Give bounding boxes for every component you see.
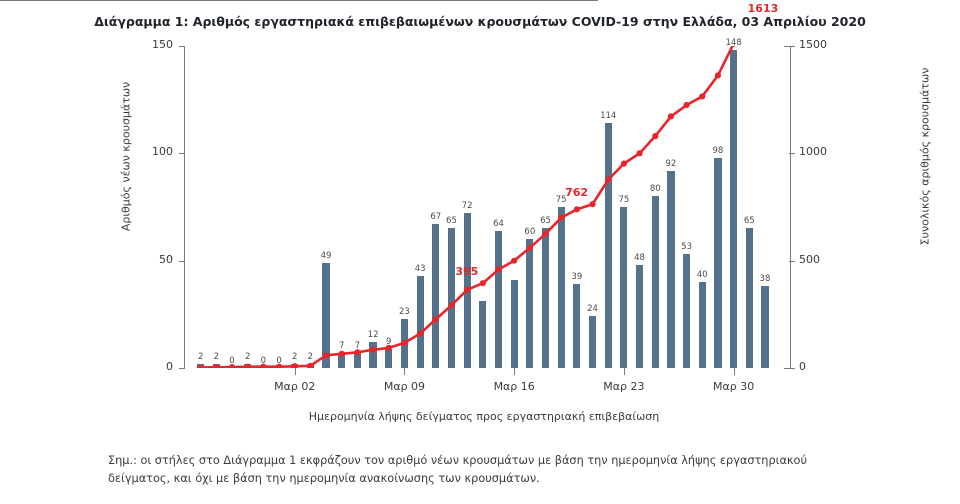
bar-value-label: 65 <box>436 216 466 226</box>
x-axis-tick-mark <box>404 368 405 375</box>
y-axis-right-tick-label: 1500 <box>799 38 845 51</box>
bar <box>605 123 612 368</box>
bar <box>479 301 486 368</box>
bar-value-label: 24 <box>578 304 608 314</box>
y-axis-right-cap <box>784 46 791 47</box>
bar <box>197 364 204 368</box>
bar-value-label: 53 <box>672 242 702 252</box>
x-axis-tick-label: Μαρ 02 <box>255 380 335 393</box>
x-axis-tick-label: Μαρ 09 <box>364 380 444 393</box>
bar <box>385 349 392 368</box>
bar <box>322 263 329 368</box>
chart-title: Διάγραμμα 1: Αριθμός εργαστηριακά επιβεβ… <box>0 14 960 29</box>
bar-value-label: 39 <box>562 272 592 282</box>
y-axis-left-title: Αριθμός νέων κρουσμάτων <box>120 57 133 257</box>
bar <box>464 213 471 368</box>
bar-value-label: 60 <box>515 227 545 237</box>
y-axis-right-line <box>790 46 791 368</box>
x-axis-tick-label: Μαρ 16 <box>474 380 554 393</box>
bar <box>730 50 737 368</box>
y-axis-right-tick-label: 0 <box>799 360 845 373</box>
bar <box>417 276 424 368</box>
y-axis-right-title: Συνολικός αριθμός κρουσμάτων <box>919 52 932 262</box>
bar <box>338 353 345 368</box>
bar-value-label: 48 <box>625 253 655 263</box>
bar <box>652 196 659 368</box>
bar-value-label: 72 <box>452 201 482 211</box>
x-axis-tick-mark <box>734 368 735 375</box>
chart-footnote: Σημ.: οι στήλες στο Διάγραμμα 1 εκφράζου… <box>108 452 870 487</box>
x-axis-tick-mark <box>514 368 515 375</box>
x-axis-title: Ημερομηνία λήψης δείγματος προς εργαστηρ… <box>185 410 783 423</box>
bar <box>401 319 408 368</box>
y-axis-right-cap <box>784 368 791 369</box>
bar <box>542 228 549 368</box>
bar-value-label: 43 <box>405 264 435 274</box>
bar <box>495 231 502 368</box>
x-axis-tick-label: Μαρ 23 <box>584 380 664 393</box>
bar-value-label: 64 <box>483 219 513 229</box>
y-axis-right-tick-label: 500 <box>799 253 845 266</box>
y-axis-left-tick-label: 0 <box>133 360 173 373</box>
y-axis-right-tick-mark <box>789 261 795 262</box>
bar <box>573 284 580 368</box>
bar-value-label: 2 <box>295 352 325 362</box>
y-axis-right-tick-mark <box>789 153 795 154</box>
y-axis-left-tick-label: 50 <box>133 253 173 266</box>
x-axis-tick-mark <box>295 368 296 375</box>
bar <box>558 207 565 368</box>
bar <box>526 239 533 368</box>
bar-value-label: 114 <box>593 111 623 121</box>
cumulative-value-label: 1613 <box>740 2 786 15</box>
x-axis-tick-mark <box>624 368 625 375</box>
bar-value-label: 65 <box>734 216 764 226</box>
x-axis-tick-label: Μαρ 30 <box>694 380 774 393</box>
bar <box>620 207 627 368</box>
chart-page: Διάγραμμα 1: Αριθμός εργαστηριακά επιβεβ… <box>0 0 960 504</box>
y-axis-left-tick-mark <box>179 368 185 369</box>
bar-value-label: 92 <box>656 159 686 169</box>
bar-value-label: 38 <box>750 274 780 284</box>
y-axis-left-tick-label: 150 <box>133 38 173 51</box>
bar-value-label: 9 <box>374 337 404 347</box>
bar-value-label: 148 <box>719 38 749 48</box>
bar <box>291 364 298 368</box>
cumulative-value-label: 762 <box>554 186 600 199</box>
bar-value-label: 75 <box>609 195 639 205</box>
y-axis-left-tick-label: 100 <box>133 145 173 158</box>
bar <box>761 286 768 368</box>
bar <box>432 224 439 368</box>
bar <box>589 316 596 368</box>
bar-value-label: 80 <box>640 184 670 194</box>
bars-layer: 2202002249771292343676572646065753924114… <box>185 46 783 368</box>
bar <box>354 353 361 368</box>
cumulative-value-label: 395 <box>444 265 490 278</box>
bar <box>307 364 314 368</box>
bar <box>714 158 721 368</box>
bar <box>746 228 753 368</box>
y-axis-right-tick-label: 1000 <box>799 145 845 158</box>
bar-value-label: 49 <box>311 251 341 261</box>
bar <box>699 282 706 368</box>
bar-value-label: 7 <box>342 341 372 351</box>
bar <box>667 171 674 368</box>
bar <box>511 280 518 368</box>
bar-value-label: 40 <box>687 270 717 280</box>
bar-value-label: 23 <box>389 307 419 317</box>
bar <box>636 265 643 368</box>
x-axis-line <box>0 0 598 1</box>
bar-value-label: 98 <box>703 146 733 156</box>
bar-value-label: 65 <box>531 216 561 226</box>
bar <box>448 228 455 368</box>
